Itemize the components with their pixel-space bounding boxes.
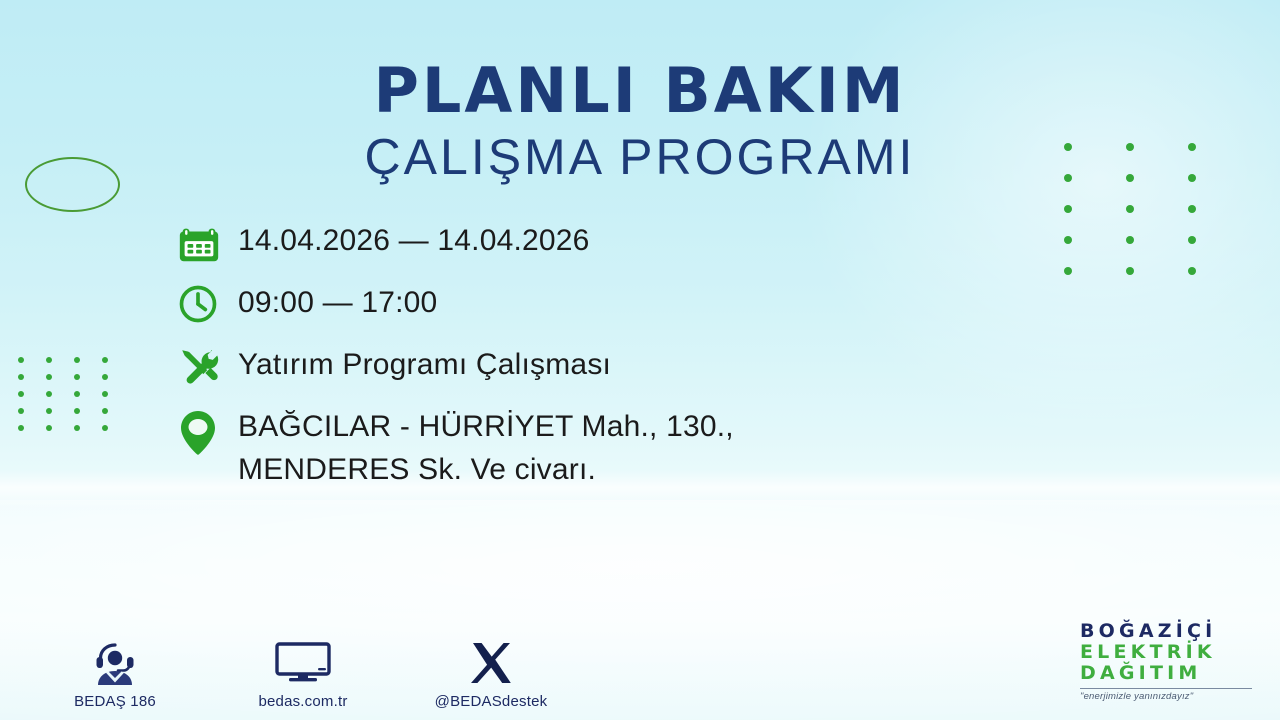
brand-line-elektrik: ELEKTRİK: [1080, 642, 1252, 663]
contact-social-x[interactable]: @BEDASdestek: [436, 639, 546, 710]
detail-value-location: BAĞCILAR - HÜRRİYET Mah., 130., MENDERES…: [238, 404, 878, 491]
clock-icon: [176, 280, 238, 326]
brand-divider: [1080, 688, 1252, 690]
brand-line-bogazici: BOĞAZİÇİ: [1080, 621, 1252, 642]
detail-row-date: 14.04.2026 — 14.04.2026: [176, 218, 1016, 266]
contact-call-center[interactable]: BEDAŞ 186: [60, 639, 170, 710]
title-line-secondary: ÇALIŞMA PROGRAMI: [0, 126, 1280, 189]
footer-contact-bar: BEDAŞ 186 bedas.com.tr @BEDASdestek: [60, 639, 546, 710]
contact-label: bedas.com.tr: [258, 693, 347, 710]
map-pin-icon: [176, 404, 238, 458]
page-title: PLANLI BAKIM ÇALIŞMA PROGRAMI: [0, 60, 1280, 189]
detail-value-work-type: Yatırım Programı Çalışması: [238, 342, 611, 387]
brand-logo: BOĞAZİÇİ ELEKTRİK DAĞITIM "enerjimizle y…: [1080, 621, 1252, 702]
outage-details-list: 14.04.2026 — 14.04.2026 09:00 — 17:00: [176, 218, 1016, 505]
dot-grid-left-decoration: [18, 357, 130, 442]
poster-canvas: PLANLI BAKIM ÇALIŞMA PROGRAMI: [0, 0, 1280, 720]
detail-value-time: 09:00 — 17:00: [238, 280, 437, 325]
title-line-primary: PLANLI BAKIM: [0, 60, 1280, 122]
contact-label: @BEDASdestek: [435, 693, 548, 710]
calendar-icon: [176, 218, 238, 266]
detail-row-work-type: Yatırım Programı Çalışması: [176, 342, 1016, 390]
detail-row-time: 09:00 — 17:00: [176, 280, 1016, 328]
brand-tagline: "enerjimizle yanınızdayız": [1080, 691, 1252, 702]
brand-line-dagitim: DAĞITIM: [1080, 663, 1252, 684]
support-headset-icon: [89, 639, 141, 685]
contact-website[interactable]: bedas.com.tr: [248, 639, 358, 710]
detail-row-location: BAĞCILAR - HÜRRİYET Mah., 130., MENDERES…: [176, 404, 1016, 491]
detail-value-date: 14.04.2026 — 14.04.2026: [238, 218, 590, 263]
x-twitter-icon: [469, 639, 513, 685]
contact-label: BEDAŞ 186: [74, 693, 156, 710]
monitor-icon: [274, 639, 332, 685]
tools-icon: [176, 342, 238, 390]
